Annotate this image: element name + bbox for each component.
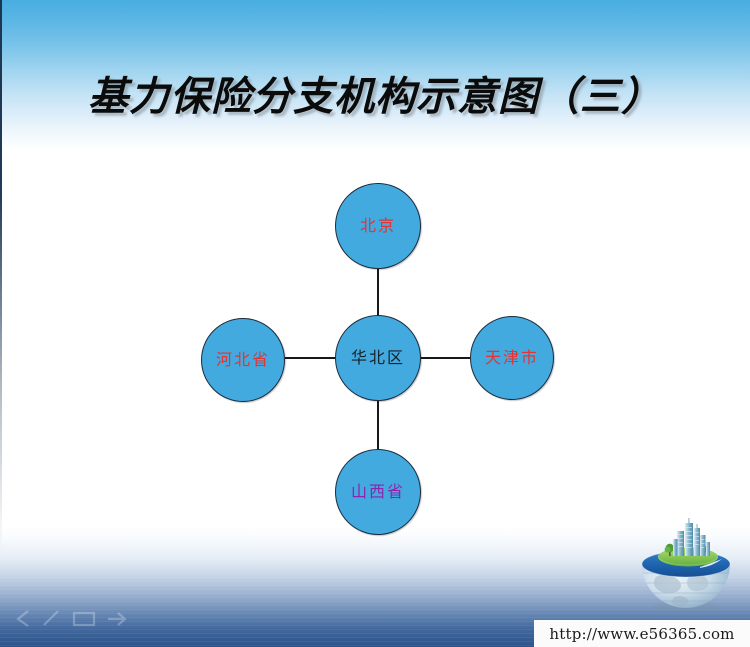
org-diagram: 北京 河北省 华北区 天津市 山西省 <box>0 150 750 570</box>
url-bar: http://www.e56365.com <box>534 620 750 647</box>
node-shanxi-label: 山西省 <box>351 484 405 500</box>
node-huabei-region[interactable]: 华北区 <box>335 315 421 401</box>
connector-center-to-hebei <box>285 357 335 359</box>
node-tianjin[interactable]: 天津市 <box>470 316 554 400</box>
node-shanxi[interactable]: 山西省 <box>335 449 421 535</box>
watermark-toolbar-icons <box>14 605 134 631</box>
node-beijing-label: 北京 <box>360 218 396 234</box>
node-hebei[interactable]: 河北省 <box>201 318 285 402</box>
node-tianjin-label: 天津市 <box>485 350 539 366</box>
node-beijing[interactable]: 北京 <box>335 183 421 269</box>
arrow-right-icon <box>108 613 125 625</box>
slide-canvas: 基力保险分支机构示意图（三） 北京 河北省 华北区 天津市 山西省 <box>0 0 750 647</box>
website-url[interactable]: http://www.e56365.com <box>549 625 734 643</box>
page-title: 基力保险分支机构示意图（三） <box>0 64 750 122</box>
pencil-line-icon <box>44 611 58 625</box>
arrow-left-icon <box>18 611 28 626</box>
node-huabei-region-label: 华北区 <box>351 350 405 366</box>
rectangle-icon <box>74 613 94 625</box>
node-hebei-label: 河北省 <box>216 352 270 368</box>
connector-center-to-tianjin <box>420 357 470 359</box>
earth-city-globe-icon <box>630 517 742 613</box>
